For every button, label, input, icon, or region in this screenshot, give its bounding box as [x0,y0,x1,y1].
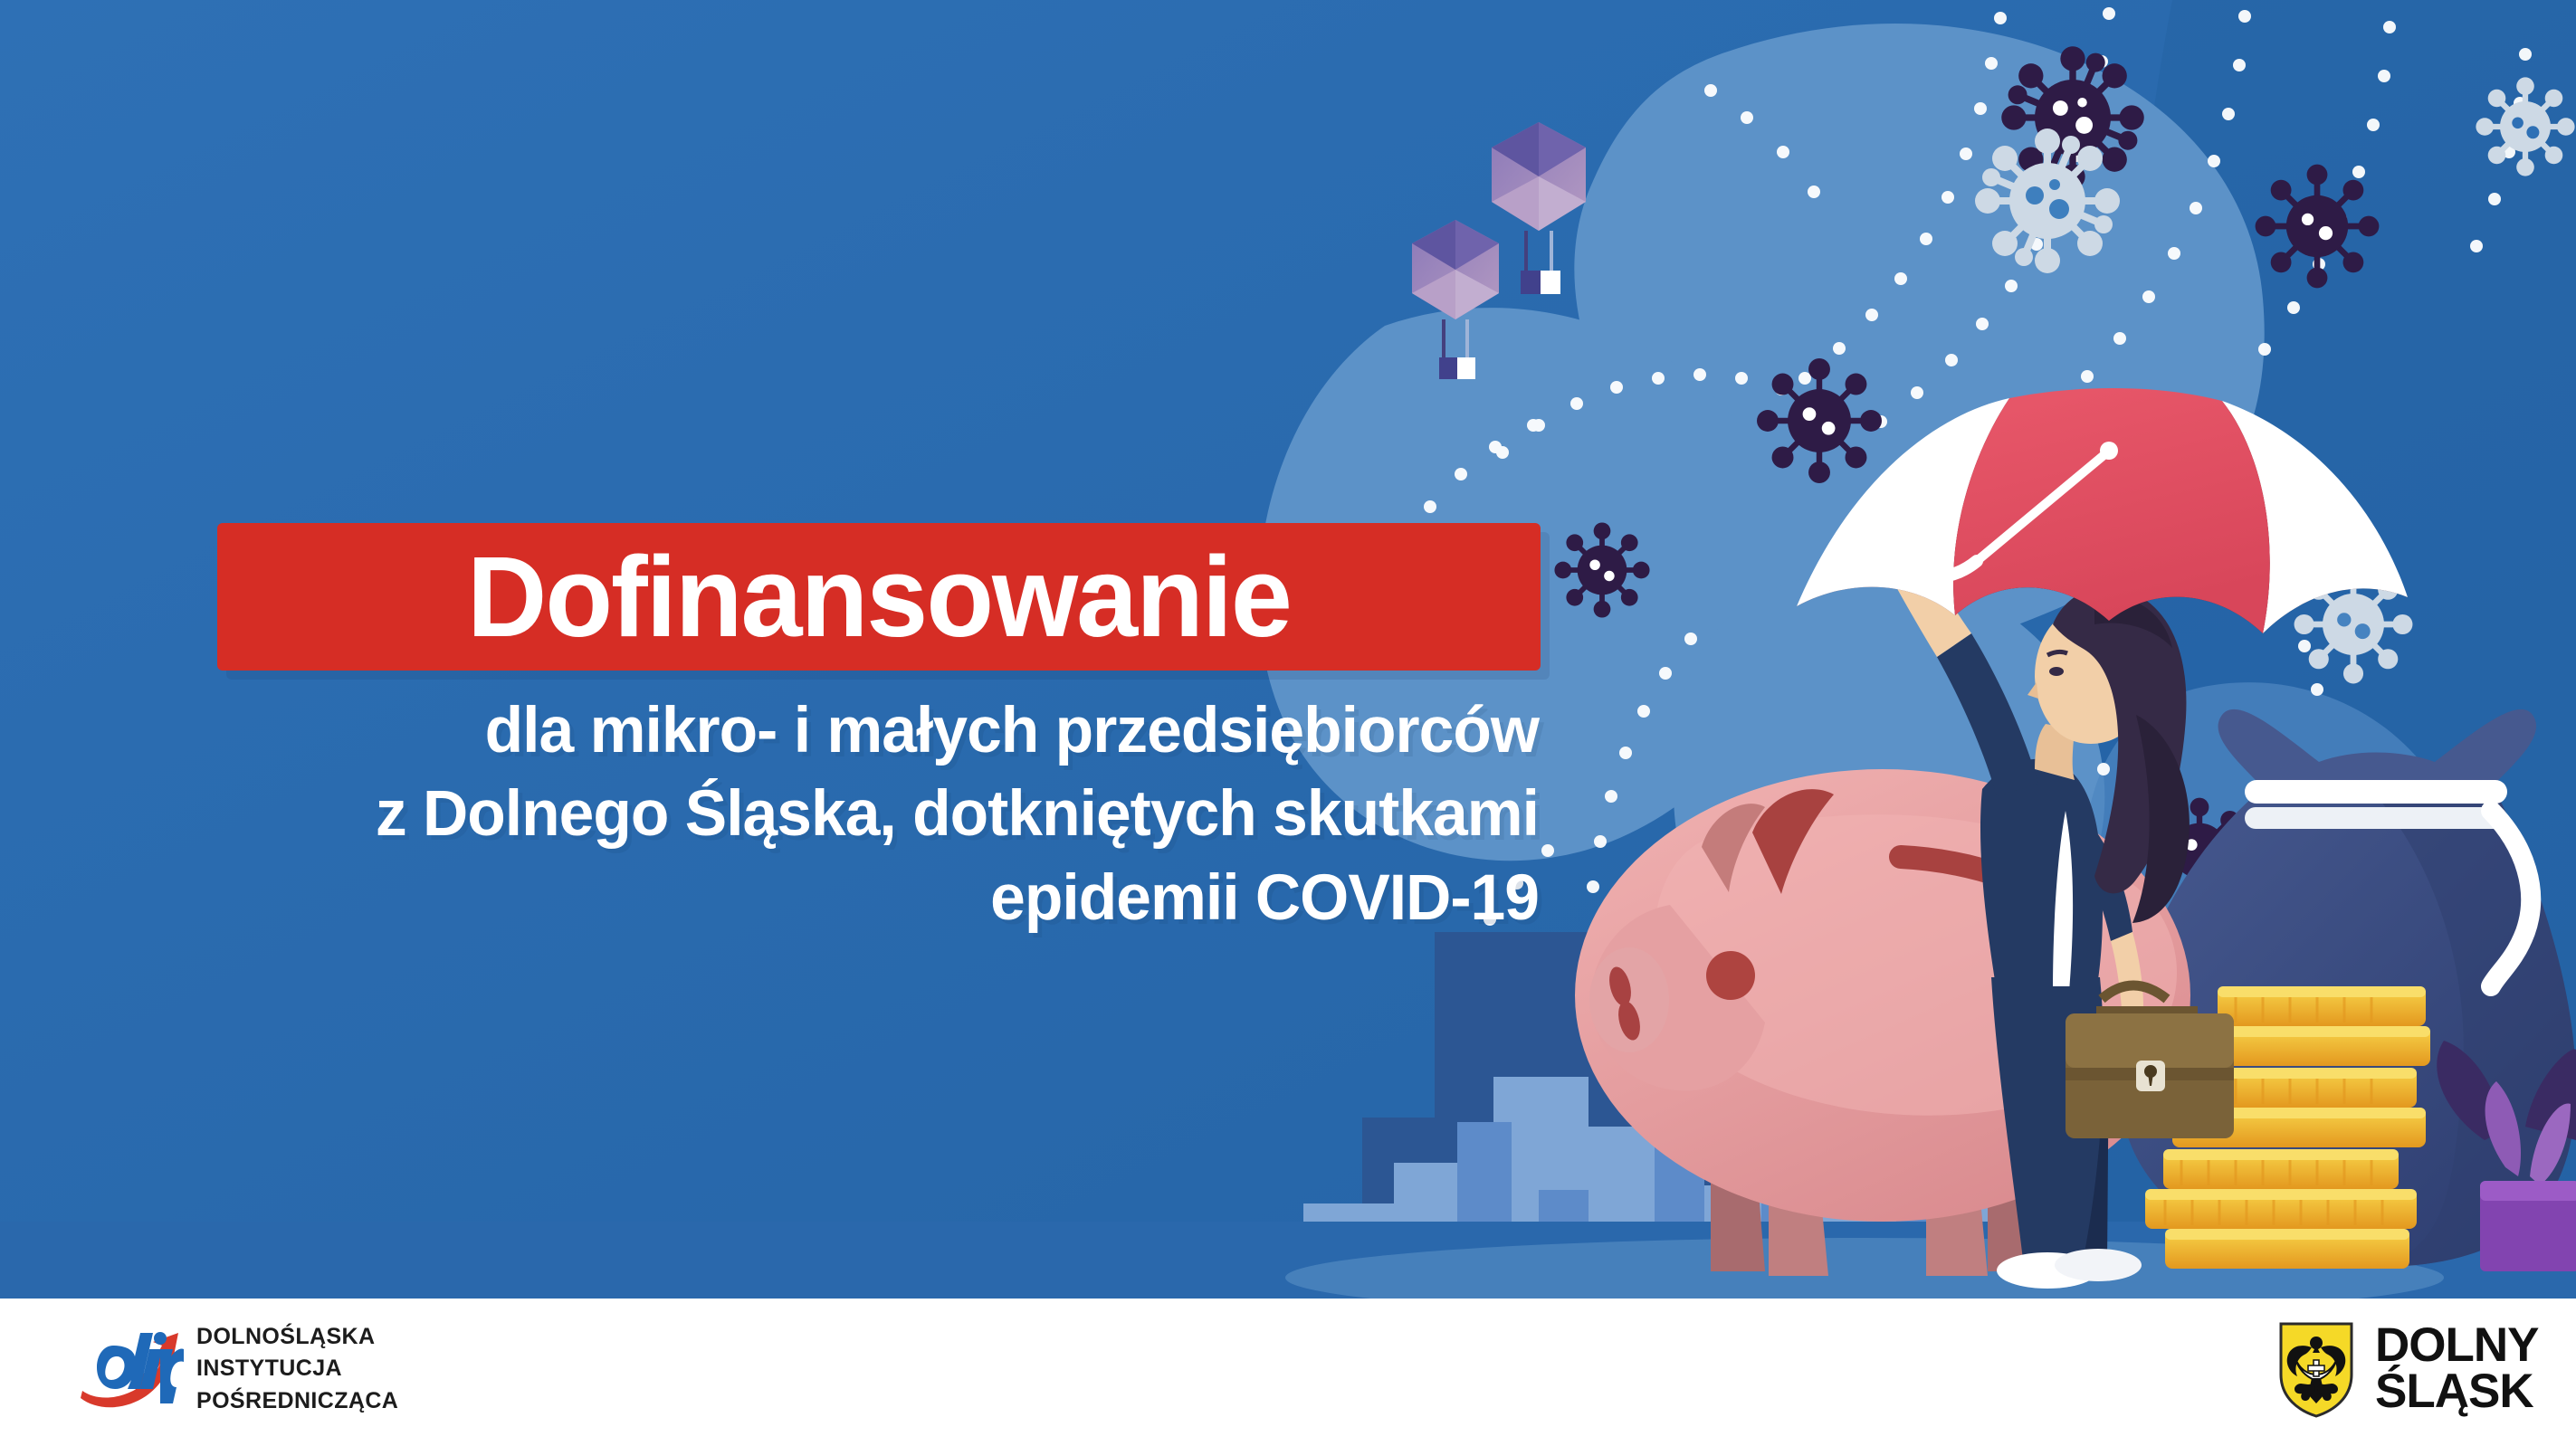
silesian-coat-of-arms-icon [2277,1318,2355,1418]
subheading: dla mikro- i małych przedsiębiorców z Do… [54,690,1539,940]
promotional-banner: Dofinansowanie dla mikro- i małych przed… [0,0,2576,1446]
dip-mark-icon [77,1320,184,1418]
dip-logo-text: DOLNOŚLĄSKA INSTYTUCJA POŚREDNICZĄCA [196,1321,398,1418]
dip-line-2: INSTYTUCJA [196,1353,398,1385]
page-title: Dofinansowanie [237,523,1521,671]
subheading-line-3: epidemii COVID-19 [84,857,1539,940]
subheading-line-2: z Dolnego Śląska, dotkniętych skutkami [84,773,1539,856]
dip-line-3: POŚREDNICZĄCA [196,1385,398,1418]
dolny-slask-logo-text: DOLNY ŚLĄSK [2375,1322,2539,1415]
dip-logo: DOLNOŚLĄSKA INSTYTUCJA POŚREDNICZĄCA [77,1320,398,1418]
subheading-line-1: dla mikro- i małych przedsiębiorców [84,690,1539,773]
ds-line-1: DOLNY [2375,1322,2539,1368]
dolny-slask-logo: DOLNY ŚLĄSK [2277,1318,2539,1418]
dip-line-1: DOLNOŚLĄSKA [196,1321,398,1354]
headline-banner: Dofinansowanie [217,523,1541,671]
ds-line-2: ŚLĄSK [2375,1368,2539,1414]
footer-bar: DOLNOŚLĄSKA INSTYTUCJA POŚREDNICZĄCA [0,1299,2576,1446]
